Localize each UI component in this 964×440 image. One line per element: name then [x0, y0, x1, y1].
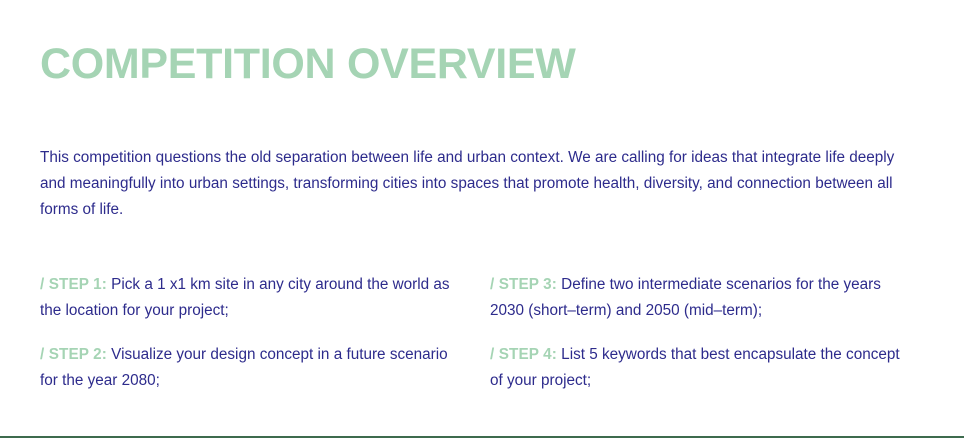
page-title: COMPETITION OVERVIEW: [40, 38, 576, 90]
slide-competition-overview: COMPETITION OVERVIEW This competition qu…: [0, 0, 964, 440]
intro-paragraph: This competition questions the old separ…: [40, 145, 922, 223]
step-4-label: / STEP 4:: [490, 346, 557, 363]
step-3-label: / STEP 3:: [490, 276, 557, 293]
bottom-divider: [0, 436, 964, 438]
step-item-3: / STEP 3: Define two intermediate scenar…: [490, 272, 924, 324]
step-item-2: / STEP 2: Visualize your design concept …: [40, 342, 490, 394]
step-item-1: / STEP 1: Pick a 1 x1 km site in any cit…: [40, 272, 490, 324]
steps-grid: / STEP 1: Pick a 1 x1 km site in any cit…: [40, 272, 924, 394]
step-2-label: / STEP 2:: [40, 346, 107, 363]
step-item-4: / STEP 4: List 5 keywords that best enca…: [490, 342, 924, 394]
step-1-label: / STEP 1:: [40, 276, 107, 293]
